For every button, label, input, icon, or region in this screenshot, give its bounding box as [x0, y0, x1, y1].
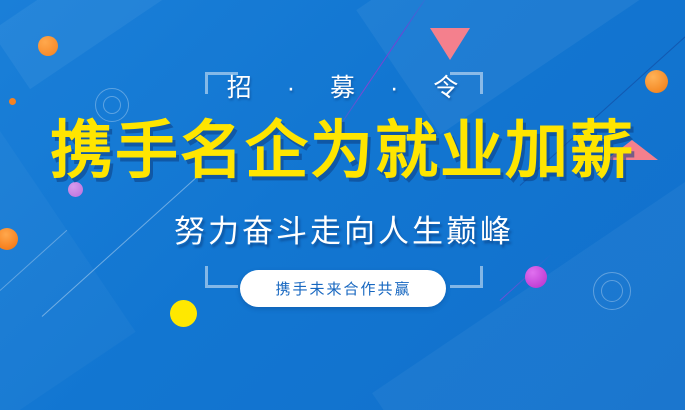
promo-banner: 招 · 募 · 令 携手名企为就业加薪 努力奋斗走向人生巅峰 携手未来合作共赢 — [0, 0, 685, 410]
banner-title: 携手名企为就业加薪 — [0, 118, 685, 184]
banner-subtitle: 努力奋斗走向人生巅峰 — [0, 206, 685, 251]
eyebrow-text: 招 · 募 · 令 — [0, 68, 685, 104]
cta-button[interactable]: 携手未来合作共赢 — [239, 270, 445, 307]
banner-content: 招 · 募 · 令 携手名企为就业加薪 努力奋斗走向人生巅峰 携手未来合作共赢 — [0, 0, 685, 410]
